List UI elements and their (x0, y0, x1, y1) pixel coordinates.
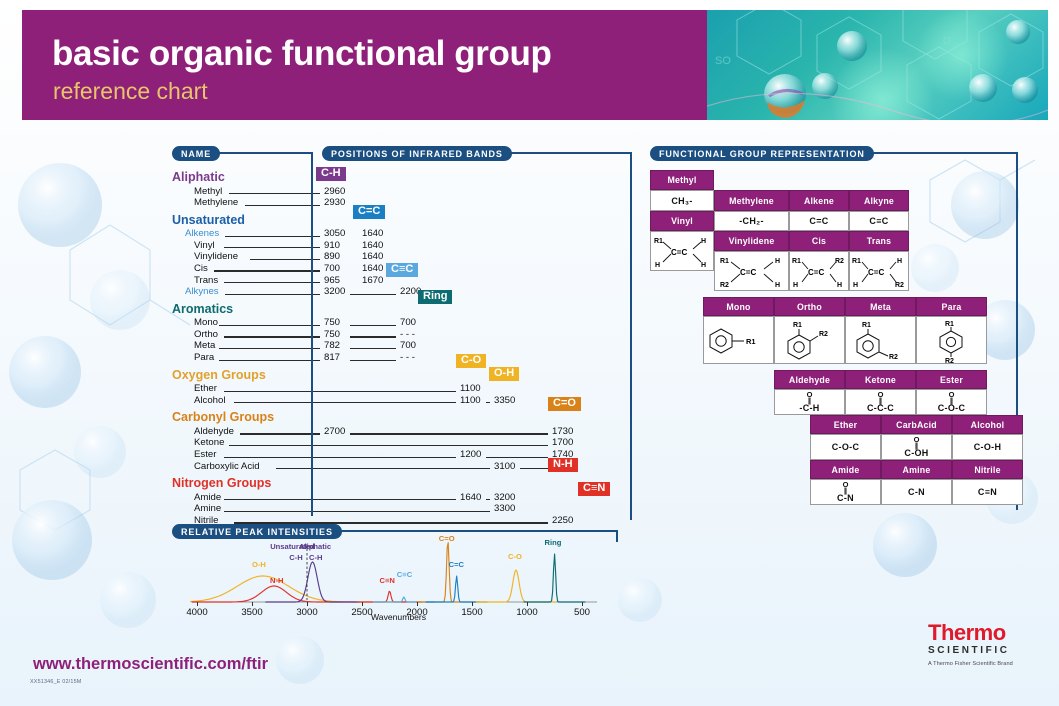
formula-ketone-structure: O ∥ C-C-C (867, 391, 894, 413)
group-heading-aliphatic: Aliphatic (172, 171, 632, 184)
section-header-representation: FUNCTIONAL GROUP REPRESENTATION (650, 146, 874, 161)
badge-cdo: C=O (548, 397, 581, 411)
svg-text:R1: R1 (720, 258, 729, 265)
rep-formula-amine: C-N (881, 479, 952, 505)
leader-line (276, 468, 490, 469)
ir-value-c4: 1640 (460, 492, 481, 503)
rep-header-nitrile: Nitrile (952, 460, 1023, 479)
formula-ether-text: C-O-C (832, 442, 860, 452)
axis-tick-label: 2000 (404, 607, 430, 618)
ir-row-name: Methylene (194, 197, 238, 208)
ir-value-c1: 782 (324, 340, 340, 351)
ir-row: Alkenes30501640 (172, 228, 632, 240)
ir-row-name: Alcohol (194, 395, 225, 406)
section-header-name: NAME (172, 146, 220, 161)
ir-row: Ortho750- - - (172, 329, 632, 341)
svg-text:H: H (897, 258, 902, 265)
rep-formula-para: R1 R2 (916, 316, 987, 364)
ir-value-c1: 700 (324, 263, 340, 274)
formula-nitrile-text: C≡N (978, 487, 997, 497)
ir-row: Amine3300 (172, 503, 632, 515)
ir-row: Aldehyde27001730 (172, 426, 632, 438)
rep-formula-methylene: -CH₂- (714, 211, 789, 231)
leader-line (245, 205, 320, 206)
ir-value-c5: 3350 (494, 395, 515, 406)
leader-line (225, 294, 320, 295)
ir-row: Amide16403200 (172, 492, 632, 504)
leader-line-secondary (486, 499, 490, 500)
ir-value-c5: 3300 (494, 503, 515, 514)
svg-text:C=C: C=C (671, 248, 687, 257)
leader-line (214, 270, 320, 271)
rep-formula-vinylidene: R1 H R2 H C=C (714, 251, 789, 291)
rep-formula-alcohol: C-O-H (952, 434, 1023, 460)
ir-value-c4: 1200 (460, 449, 481, 460)
svg-text:H: H (655, 262, 660, 269)
ir-value-c5: 3200 (494, 492, 515, 503)
group-heading-unsaturated: Unsaturated (172, 214, 632, 227)
page-title: basic organic functional group (52, 36, 551, 71)
svg-text:R1: R1 (945, 321, 954, 328)
axis-tick (582, 602, 583, 606)
ir-value-c1: 750 (324, 329, 340, 340)
ir-row: Methylene2930 (172, 197, 632, 209)
formula-ester-structure: O ∥ C-O-C (938, 391, 966, 413)
infrared-bands-table: AliphaticMethyl2960Methylene2930Unsatura… (172, 166, 632, 526)
leader-line (250, 259, 320, 260)
ir-row: Nitrile2250 (172, 515, 632, 527)
page-header: SO O basic organic functional group refe… (22, 10, 1048, 120)
rep-formula-ether: C-O-C (810, 434, 881, 460)
carbacid-chain: C-OH (904, 448, 928, 458)
rep-header-methylene: Methylene (714, 190, 789, 211)
ir-row-name: Alkynes (185, 286, 219, 297)
document-code: XX51346_E 02/15M (30, 679, 81, 685)
svg-text:C=C: C=C (740, 268, 756, 277)
ir-value-c2: 1640 (362, 228, 383, 239)
header-molecule-graphic: SO O (707, 10, 1048, 120)
ir-row-name: Alkenes (185, 228, 219, 239)
svg-text:R1: R1 (862, 322, 871, 329)
ir-row-name: Ketone (194, 437, 224, 448)
ir-row: Mono750700 (172, 317, 632, 329)
peak-label-oh: O-H (252, 560, 266, 569)
svg-text:R2: R2 (945, 358, 954, 363)
ir-value-c2: 1670 (362, 275, 383, 286)
axis-tick (307, 602, 308, 606)
leader-line (224, 282, 320, 283)
ir-value-c3: 700 (400, 340, 416, 351)
ester-chain: C-O-C (938, 403, 966, 413)
rep-header-amide: Amide (810, 460, 881, 479)
axis-tick-label: 1000 (514, 607, 540, 618)
axis-tick-label: 3500 (239, 607, 265, 618)
leader-line (219, 325, 320, 326)
ir-row: Ketone1700 (172, 437, 632, 449)
rep-formula-mono: R1 (703, 316, 774, 364)
svg-text:H: H (775, 282, 780, 289)
rep-formula-vinyl: R1 H H H C=C (650, 231, 714, 271)
group-heading-oxygen-groups: Oxygen Groups (172, 369, 632, 382)
leader-line (224, 457, 456, 458)
rep-header-carbacid: CarbAcid (881, 415, 952, 434)
rep-formula-trans: R1 H H R2 C=C (849, 251, 909, 291)
ir-row-name: Carboxylic Acid (194, 461, 260, 472)
svg-text:R2: R2 (819, 331, 828, 338)
formula-alcohol-text: C-O-H (974, 442, 1002, 452)
svg-text:H: H (775, 258, 780, 265)
formula-methyl-text: CH₃- (671, 196, 692, 206)
ir-value-c2: 1640 (362, 263, 383, 274)
amide-chain: C-N (837, 493, 854, 503)
leader-line-secondary (520, 468, 548, 469)
svg-text:SO: SO (715, 55, 731, 67)
badge-ch: C-H (316, 167, 346, 181)
ir-value-c4: 1100 (460, 383, 481, 394)
leader-line (224, 511, 490, 512)
ir-value-c1: 2700 (324, 426, 345, 437)
page-subtitle: reference chart (53, 80, 208, 103)
rep-header-cis: Cis (789, 231, 849, 251)
ir-value-c6: 1700 (552, 437, 573, 448)
section-header-positions: POSITIONS OF INFRARED BANDS (322, 146, 512, 161)
leader-line (224, 499, 456, 500)
svg-text:R2: R2 (889, 354, 898, 361)
badge-cct: C≡C (386, 263, 418, 277)
ir-value-c3: 700 (400, 317, 416, 328)
rep-formula-meta: R1 R2 (845, 316, 916, 364)
ir-row-name: Cis (194, 263, 208, 274)
badge-cc: C=C (353, 205, 385, 219)
rep-header-amine: Amine (881, 460, 952, 479)
leader-line-secondary (350, 336, 396, 337)
axis-tick (197, 602, 198, 606)
svg-text:O: O (943, 36, 951, 47)
peak-label-co: C=O (439, 534, 455, 543)
rep-formula-cis: R1 R2 H H C=C (789, 251, 849, 291)
leader-line-secondary (350, 294, 396, 295)
ir-row-name: Methyl (194, 186, 222, 197)
badge-co: C-O (456, 354, 486, 368)
logo-scientific-text: SCIENTIFIC (928, 646, 1013, 656)
thermo-scientific-logo: Thermo SCIENTIFIC A Thermo Fisher Scient… (928, 622, 1013, 667)
ir-row-name: Amide (194, 492, 221, 503)
svg-text:C=C: C=C (868, 268, 884, 277)
rep-header-vinyl: Vinyl (650, 211, 714, 231)
rep-header-aldehyde: Aldehyde (774, 370, 845, 389)
ir-value-c5: 3100 (494, 461, 515, 472)
ir-value-c1: 750 (324, 317, 340, 328)
rep-header-alcohol: Alcohol (952, 415, 1023, 434)
ir-value-c4: 1100 (460, 395, 481, 406)
group-heading-aromatics: Aromatics (172, 303, 632, 316)
leader-line (234, 522, 548, 523)
ir-value-c1: 890 (324, 251, 340, 262)
rep-header-vinylidene: Vinylidene (714, 231, 789, 251)
ir-value-c6: 1730 (552, 426, 573, 437)
leader-line (225, 236, 320, 237)
logo-brand-text: Thermo (928, 622, 1013, 644)
svg-text:R1: R1 (852, 258, 861, 265)
reference-chart-page: SO O basic organic functional group refe… (0, 0, 1059, 706)
ir-row-name: Ortho (194, 329, 218, 340)
leader-line (224, 247, 320, 248)
badge-ring: Ring (418, 290, 452, 304)
axis-tick (362, 602, 363, 606)
svg-text:H: H (837, 282, 842, 289)
svg-text:H: H (701, 262, 706, 269)
svg-text:R1: R1 (792, 258, 801, 265)
rep-header-para: Para (916, 297, 987, 316)
svg-text:R2: R2 (720, 282, 729, 289)
ir-value-c1: 3050 (324, 228, 345, 239)
leader-line (219, 348, 320, 349)
peak-label-cc: C=C (449, 560, 464, 569)
rep-header-trans: Trans (849, 231, 909, 251)
leader-line-secondary (350, 360, 396, 361)
group-heading-nitrogen-groups: Nitrogen Groups (172, 477, 632, 490)
ir-row-name: Vinyl (194, 240, 215, 251)
rep-formula-ester: O ∥ C-O-C (916, 389, 987, 415)
ir-value-c1: 2960 (324, 186, 345, 197)
group-heading-carbonyl-groups: Carbonyl Groups (172, 411, 632, 424)
ir-value-c1: 2930 (324, 197, 345, 208)
axis-tick (417, 602, 418, 606)
svg-text:R2: R2 (895, 282, 904, 289)
leader-line (240, 433, 320, 434)
rep-header-alkyne: Alkyne (849, 190, 909, 211)
ir-value-c1: 817 (324, 352, 340, 363)
leader-line-secondary (486, 457, 548, 458)
rep-header-mono: Mono (703, 297, 774, 316)
rep-formula-nitrile: C≡N (952, 479, 1023, 505)
formula-amide-structure: O ∥ C-N (837, 481, 854, 503)
peak-label-co: C-O (508, 552, 522, 561)
ir-row-name: Aldehyde (194, 426, 234, 437)
leader-line (224, 336, 320, 337)
leader-line-secondary (486, 402, 490, 403)
rep-header-ester: Ester (916, 370, 987, 389)
ir-value-c1: 965 (324, 275, 340, 286)
axis-tick (527, 602, 528, 606)
ir-value-c2: 1640 (362, 251, 383, 262)
svg-text:H: H (701, 238, 706, 245)
badge-oh: O-H (489, 367, 519, 381)
leader-line-secondary (350, 433, 548, 434)
svg-text:R1: R1 (654, 238, 663, 245)
ir-row-name: Vinylidene (194, 251, 238, 262)
peak-label-cn: C≡N (380, 576, 395, 585)
ir-value-c1: 910 (324, 240, 340, 251)
formula-carbacid-structure: O ∥ C-OH (904, 436, 928, 458)
badge-cn: C≡N (578, 482, 610, 496)
axis-tick-label: 500 (569, 607, 595, 618)
peak-label-ch: C-H (309, 553, 323, 562)
ir-row-name: Ester (194, 449, 216, 460)
axis-tick-label: 4000 (184, 607, 210, 618)
formula-alkene-text: C=C (809, 216, 828, 226)
logo-tagline: A Thermo Fisher Scientific Brand (928, 661, 1013, 667)
formula-aldehyde-structure: O ∥ -C-H (799, 391, 819, 413)
leader-line (219, 360, 320, 361)
ir-row-name: Nitrile (194, 515, 219, 526)
axis-tick (252, 602, 253, 606)
axis-tick-label: 3000 (294, 607, 320, 618)
table-divider (311, 166, 313, 516)
leader-line (234, 402, 456, 403)
ir-row-name: Trans (194, 275, 218, 286)
formula-methylene-text: -CH₂- (739, 216, 764, 226)
peak-label-cc: C≡C (397, 570, 412, 579)
rep-header-meta: Meta (845, 297, 916, 316)
leader-line (229, 445, 548, 446)
axis-tick-label: 1500 (459, 607, 485, 618)
svg-text:R1: R1 (746, 337, 756, 346)
rep-header-ortho: Ortho (774, 297, 845, 316)
rep-header-alkene: Alkene (789, 190, 849, 211)
svg-text:H: H (793, 282, 798, 289)
axis-tick-label: 2500 (349, 607, 375, 618)
leader-line (229, 193, 320, 194)
ketone-chain: C-C-C (867, 403, 894, 413)
svg-text:R2: R2 (835, 258, 844, 265)
ir-value-c6: 2250 (552, 515, 573, 526)
formula-alkyne-text: C≡C (869, 216, 888, 226)
website-url[interactable]: www.thermoscientific.com/ftir (33, 655, 268, 674)
leader-line (224, 391, 456, 392)
ir-row-name: Mono (194, 317, 218, 328)
ir-value-c2: 1640 (362, 240, 383, 251)
ir-row: Ether1100 (172, 383, 632, 395)
rep-formula-amide: O ∥ C-N (810, 479, 881, 505)
rep-formula-alkyne: C≡C (849, 211, 909, 231)
peak-label-aliphatic: Aliphatic (299, 542, 331, 551)
ir-value-c3: - - - (400, 352, 415, 363)
svg-text:C=C: C=C (808, 268, 824, 277)
ir-row: Vinyl9101640 (172, 240, 632, 252)
aldehyde-chain: -C-H (799, 403, 819, 413)
ir-row: Meta782700 (172, 340, 632, 352)
badge-nh: N-H (548, 458, 578, 472)
peak-label-ch: C-H (289, 553, 303, 562)
ir-row: Alkynes32002200 (172, 286, 632, 298)
rep-formula-carbacid: O ∥ C-OH (881, 434, 952, 460)
leader-line-secondary (350, 325, 396, 326)
rep-formula-alkene: C=C (789, 211, 849, 231)
peak-label-nh: N-H (270, 576, 284, 585)
rep-header-ether: Ether (810, 415, 881, 434)
rep-header-methyl: Methyl (650, 170, 714, 190)
ir-value-c1: 3200 (324, 286, 345, 297)
rep-formula-methyl: CH₃- (650, 190, 714, 211)
ir-row: Para817- - - (172, 352, 632, 364)
svg-text:R1: R1 (793, 322, 802, 329)
leader-line-secondary (350, 348, 396, 349)
ir-row-name: Para (194, 352, 214, 363)
ir-row-name: Amine (194, 503, 221, 514)
ir-value-c3: - - - (400, 329, 415, 340)
rep-header-ketone: Ketone (845, 370, 916, 389)
svg-text:H: H (853, 282, 858, 289)
rep-formula-aldehyde: O ∥ -C-H (774, 389, 845, 415)
rep-formula-ketone: O ∥ C-C-C (845, 389, 916, 415)
rep-formula-ortho: R1 R2 (774, 316, 845, 364)
ir-row: Vinylidene8901640 (172, 251, 632, 263)
axis-tick (472, 602, 473, 606)
ir-row-name: Ether (194, 383, 217, 394)
peak-label-ring: Ring (545, 538, 562, 547)
ir-row: Methyl2960 (172, 186, 632, 198)
ir-row-name: Meta (194, 340, 215, 351)
formula-amine-text: C-N (908, 487, 925, 497)
